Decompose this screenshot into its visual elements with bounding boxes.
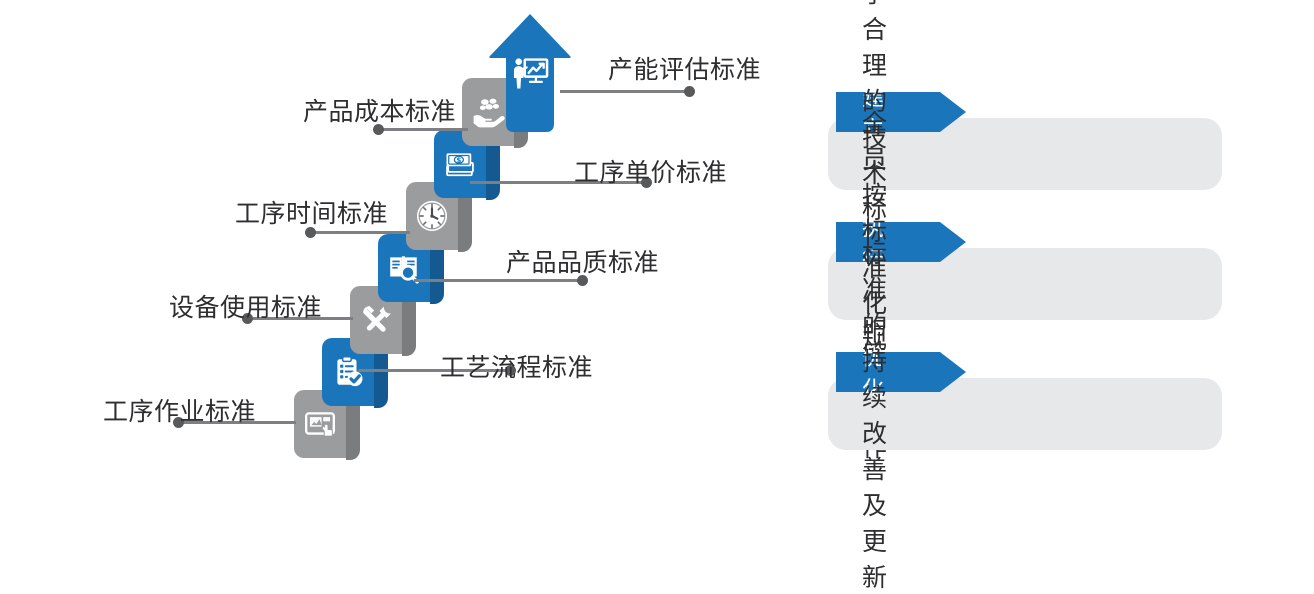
svg-text:$: $ (456, 155, 461, 164)
connector-line-4 (414, 279, 582, 282)
card-tag-shape (836, 222, 966, 262)
step-label-4: 产品品质标准 (506, 243, 659, 279)
step-label-3: 设备使用标准 (169, 288, 322, 324)
connector-line-8 (560, 90, 690, 93)
step-label-2: 工艺流程标准 (440, 348, 593, 384)
step-label-5: 工序时间标准 (235, 194, 388, 230)
connector-line-7 (378, 128, 468, 131)
step-label-6: 工序单价标准 (574, 153, 727, 189)
connector-line-5 (310, 231, 410, 234)
card-description: 标准的持续改善及更新 (862, 378, 888, 450)
step-label-8: 产能评估标准 (608, 50, 761, 86)
diagram-canvas: $ (0, 0, 1314, 497)
card-tag-shape (836, 352, 966, 392)
step-label-1: 工序作业标准 (103, 392, 256, 428)
step-tile-8[interactable] (488, 12, 572, 134)
connector-dot-8 (684, 86, 695, 97)
card-tag-shape (836, 92, 966, 132)
step-label-7: 产品成本标准 (303, 92, 456, 128)
